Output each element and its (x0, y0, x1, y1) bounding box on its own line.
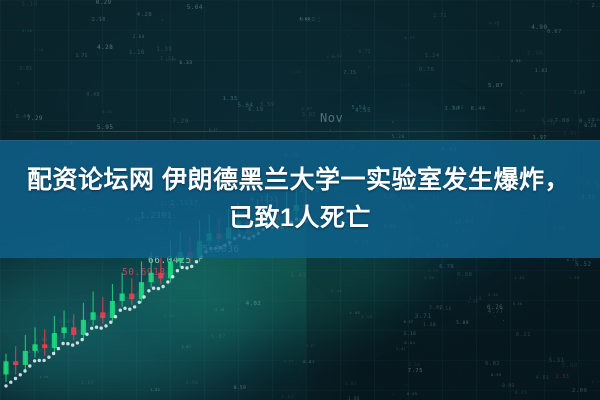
trendline-dot (90, 327, 93, 330)
trendline-dot (57, 347, 60, 350)
trendline-dot (119, 309, 122, 312)
trendline-dot (152, 287, 155, 290)
trendline-dot (47, 356, 50, 359)
trendline-dot (185, 266, 188, 269)
trendline-dot (28, 364, 31, 367)
trendline-dot (4, 384, 7, 387)
trendline-dot (195, 260, 198, 263)
trendline-dot (104, 324, 107, 327)
trendline-dot (42, 359, 45, 362)
trendline-dot (142, 295, 145, 298)
trendline-dot (9, 381, 12, 384)
headline-line-1: 配资论坛网 伊朗德黑兰大学一实验室发生爆炸， (0, 161, 600, 199)
trendline-dot (52, 352, 55, 355)
trendline-dot (157, 287, 160, 290)
trendline-dot (133, 305, 136, 308)
trendline-dot (85, 333, 88, 336)
trendline-dot (171, 275, 174, 278)
headline-line-2: 已致1人死亡 (229, 199, 371, 237)
trendline-dot (123, 307, 126, 310)
trendline-dot (38, 359, 41, 362)
trendline-dot (19, 373, 22, 376)
trendline-dot (128, 308, 131, 311)
trendline-dot (109, 321, 112, 324)
reference-line (0, 131, 600, 132)
trendline-dot (14, 377, 17, 380)
trendline-dot (190, 265, 193, 268)
trendline-dot (161, 285, 164, 288)
trendline-dot (176, 269, 179, 272)
candle-body (13, 361, 18, 365)
trendline-dot (181, 266, 184, 269)
trendline-dot (114, 315, 117, 318)
news-thumbnail-image: ·0.595.527.750.24·1.244.460.763.71·3.91·… (0, 0, 600, 400)
trendline-dot (23, 369, 26, 372)
trendline-dot (71, 343, 74, 346)
trendline-dot (138, 301, 141, 304)
trendline-dot (76, 341, 79, 344)
trendline-dot (166, 280, 169, 283)
trendline-dot (81, 338, 84, 341)
headline-band: 配资论坛网 伊朗德黑兰大学一实验室发生爆炸， 已致1人死亡 (0, 140, 600, 258)
trendline-dot (61, 342, 64, 345)
trendline-dot (100, 326, 103, 329)
trendline-dot (147, 289, 150, 292)
trendline-dot (66, 342, 69, 345)
trendline-dot (95, 326, 98, 329)
trendline-dot (33, 359, 36, 362)
